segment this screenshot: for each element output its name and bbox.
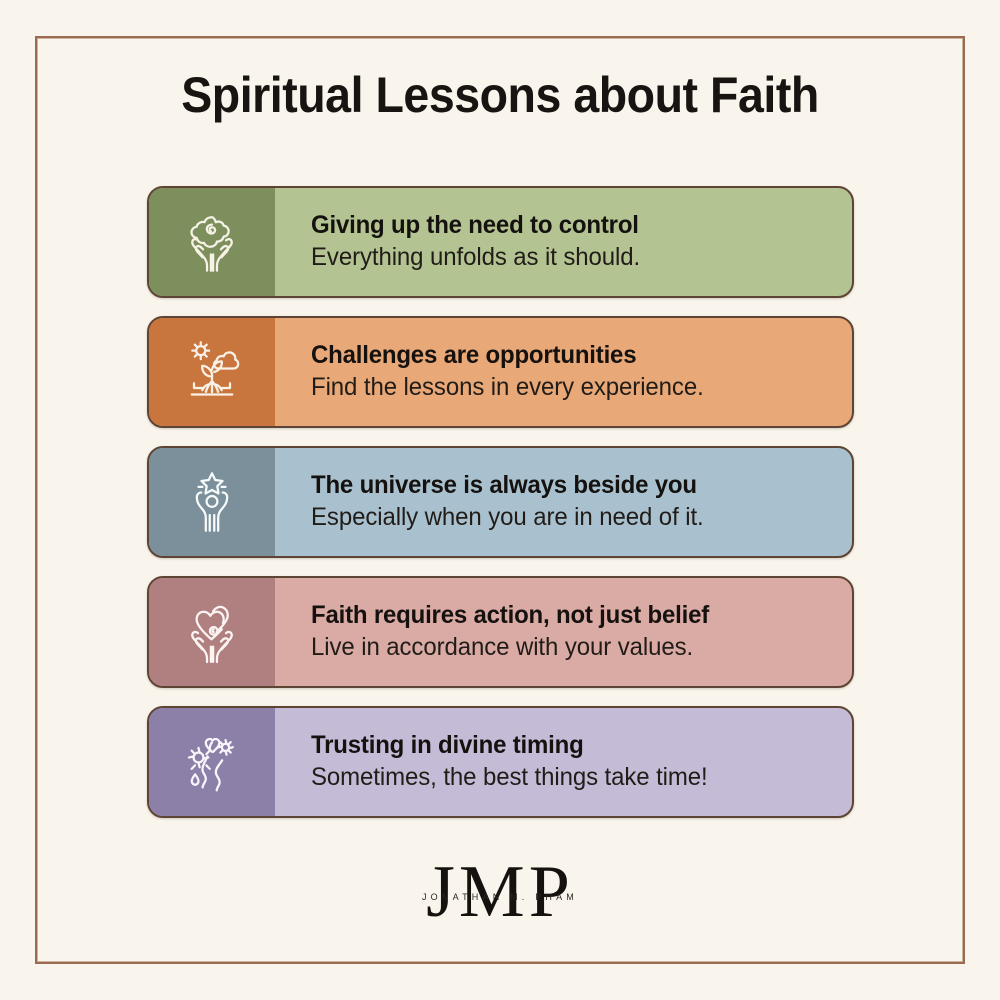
- heart-in-hands-icon: [176, 596, 248, 668]
- person-reaching-star-icon: [176, 466, 248, 538]
- rose-in-hands-icon: [176, 206, 248, 278]
- card-title: Faith requires action, not just belief: [311, 601, 817, 631]
- card-subtitle: Find the lessons in every experience.: [311, 372, 817, 404]
- lesson-card[interactable]: Faith requires action, not just belief L…: [147, 576, 854, 688]
- card-text-panel: Challenges are opportunities Find the le…: [275, 318, 852, 426]
- card-subtitle: Everything unfolds as it should.: [311, 242, 817, 274]
- card-subtitle: Live in accordance with your values.: [311, 632, 817, 664]
- card-title: Giving up the need to control: [311, 211, 817, 241]
- logo-mark: JMP JONATHAN M. PHAM: [400, 856, 600, 928]
- card-icon-panel: [149, 188, 275, 296]
- card-text-panel: Trusting in divine timing Sometimes, the…: [275, 708, 852, 816]
- card-title: The universe is always beside you: [311, 471, 817, 501]
- card-text-panel: Giving up the need to control Everything…: [275, 188, 852, 296]
- lesson-card[interactable]: Giving up the need to control Everything…: [147, 186, 854, 298]
- page-title: Spiritual Lessons about Faith: [35, 66, 965, 124]
- flowers-swirls-icon: [176, 726, 248, 798]
- poster: Spiritual Lessons about Faith: [0, 0, 1000, 1000]
- card-title: Challenges are opportunities: [311, 341, 817, 371]
- lesson-card-list: Giving up the need to control Everything…: [147, 186, 854, 836]
- card-icon-panel: [149, 448, 275, 556]
- card-text-panel: The universe is always beside you Especi…: [275, 448, 852, 556]
- lesson-card[interactable]: Challenges are opportunities Find the le…: [147, 316, 854, 428]
- card-subtitle: Sometimes, the best things take time!: [311, 762, 817, 794]
- card-icon-panel: [149, 708, 275, 816]
- card-subtitle: Especially when you are in need of it.: [311, 502, 817, 534]
- card-text-panel: Faith requires action, not just belief L…: [275, 578, 852, 686]
- card-icon-panel: [149, 318, 275, 426]
- sprout-sun-cloud-icon: [176, 336, 248, 408]
- brand-logo: JMP JONATHAN M. PHAM: [0, 856, 1000, 928]
- lesson-card[interactable]: Trusting in divine timing Sometimes, the…: [147, 706, 854, 818]
- card-title: Trusting in divine timing: [311, 731, 817, 761]
- logo-name: JONATHAN M. PHAM: [400, 892, 600, 902]
- lesson-card[interactable]: The universe is always beside you Especi…: [147, 446, 854, 558]
- card-icon-panel: [149, 578, 275, 686]
